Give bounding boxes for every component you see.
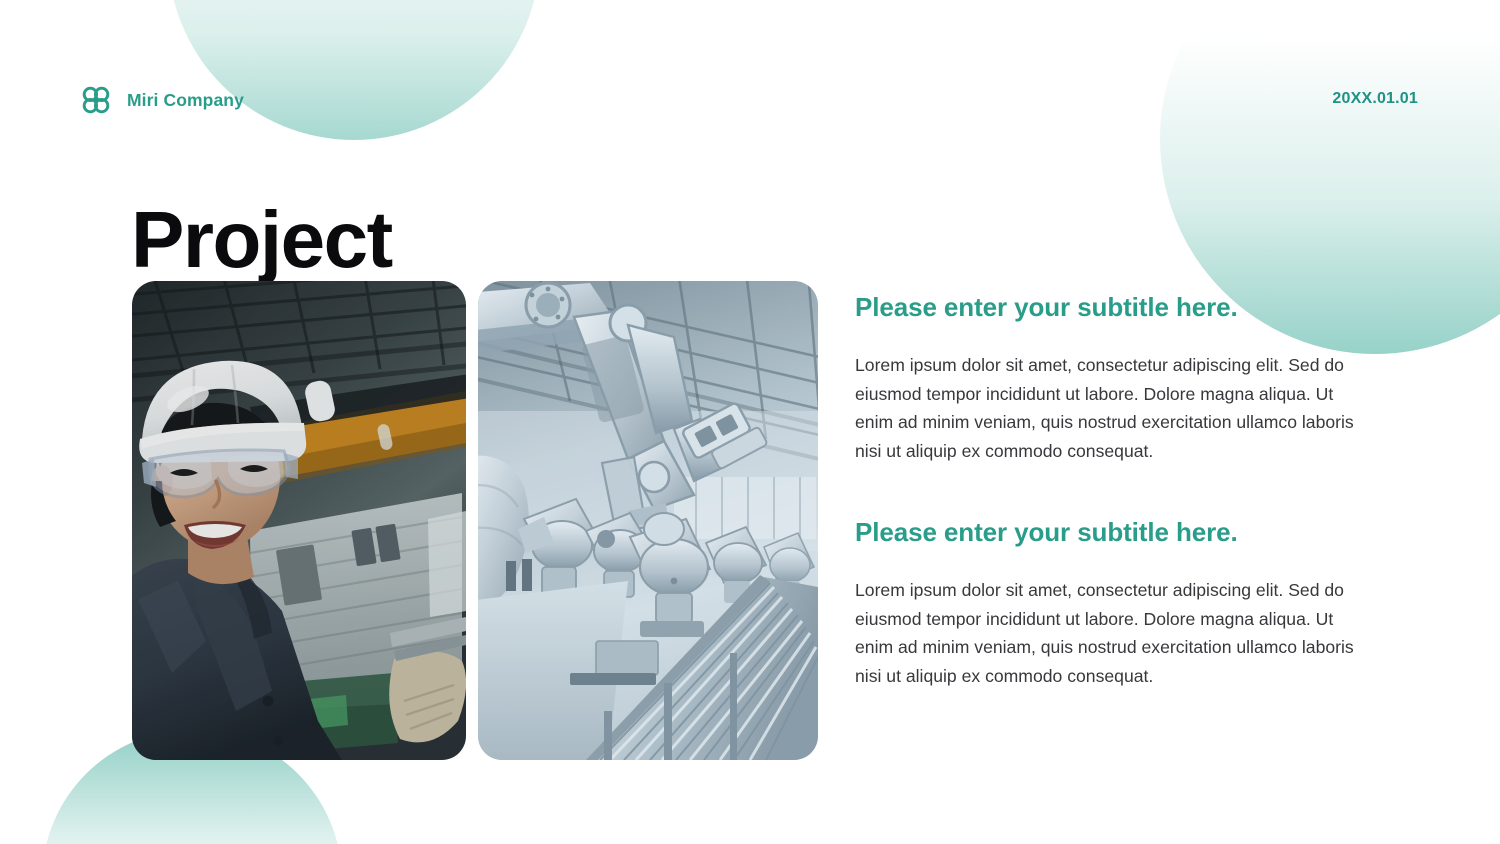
page-title: Project [131, 200, 392, 280]
content-column: Please enter your subtitle here. Lorem i… [855, 292, 1385, 690]
body-text-1: Lorem ipsum dolor sit amet, consectetur … [855, 351, 1365, 465]
presentation-slide: Miri Company 20XX.01.01 Project [0, 0, 1500, 844]
interlocking-knot-logo-icon [78, 82, 114, 118]
subtitle-1: Please enter your subtitle here. [855, 292, 1385, 323]
slide-date: 20XX.01.01 [1332, 90, 1418, 108]
content-block-2: Please enter your subtitle here. Lorem i… [855, 517, 1385, 690]
subtitle-2: Please enter your subtitle here. [855, 517, 1385, 548]
body-text-2: Lorem ipsum dolor sit amet, consectetur … [855, 576, 1365, 690]
brand-name: Miri Company [127, 90, 244, 111]
blob-top-left-decoration [168, 0, 540, 140]
worker-photo [132, 281, 466, 760]
slide-header: Miri Company [78, 82, 244, 118]
robot-arms-photo [478, 281, 818, 760]
content-block-1: Please enter your subtitle here. Lorem i… [855, 292, 1385, 465]
